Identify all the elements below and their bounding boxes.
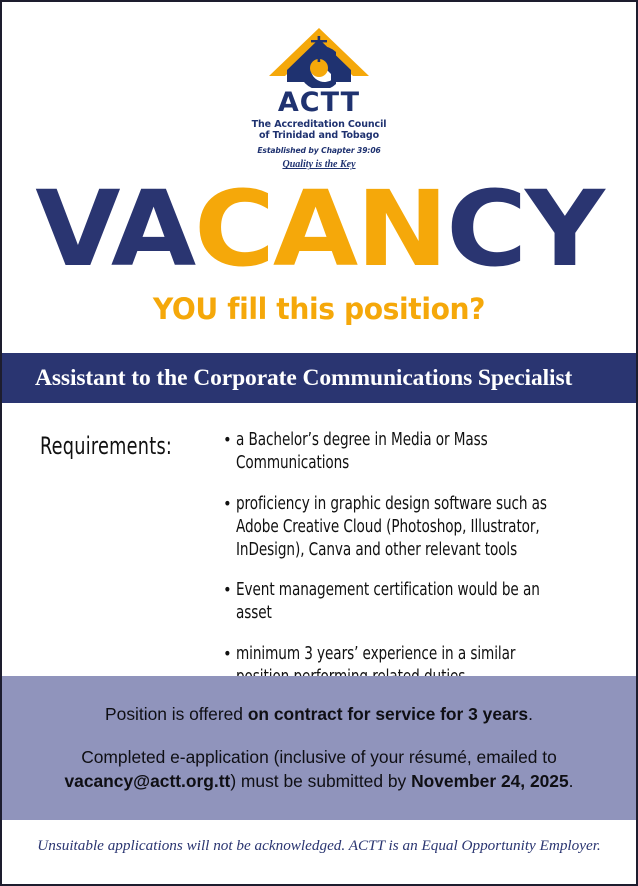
application-details-panel: Position is offered on contract for serv… bbox=[2, 676, 636, 820]
job-title-banner: Assistant to the Corporate Communication… bbox=[2, 353, 636, 403]
submission-end: . bbox=[569, 771, 574, 791]
list-item: • proficiency in graphic design software… bbox=[223, 493, 612, 563]
logo-subtitle-line-2: of Trinidad and Tobago bbox=[252, 130, 387, 141]
contract-statement: Position is offered on contract for serv… bbox=[105, 702, 533, 727]
requirement-text: Event management certification would be … bbox=[236, 579, 559, 625]
logo-established-text: Established by Chapter 39:06 bbox=[257, 146, 380, 155]
application-deadline: November 24, 2025 bbox=[411, 771, 569, 791]
requirement-text: proficiency in graphic design software s… bbox=[236, 493, 559, 563]
vacancy-poster: ACTT The Accreditation Council of Trinid… bbox=[0, 0, 638, 886]
contract-suffix: . bbox=[528, 704, 533, 724]
logo-acronym: ACTT bbox=[278, 89, 360, 116]
submission-middle: ) must be submitted by bbox=[230, 771, 411, 791]
list-item: • Event management certification would b… bbox=[223, 579, 612, 625]
logo-subtitle: The Accreditation Council of Trinidad an… bbox=[252, 119, 387, 141]
headline-part-1: VA bbox=[35, 168, 194, 290]
headline-subtitle: YOU fill this position? bbox=[12, 292, 627, 326]
actt-chevron-logo-icon bbox=[267, 26, 371, 88]
bullet-icon: • bbox=[223, 429, 236, 475]
requirement-text: a Bachelor’s degree in Media or Mass Com… bbox=[236, 429, 559, 475]
contract-prefix: Position is offered bbox=[105, 704, 248, 724]
headline-part-2: CAN bbox=[194, 168, 446, 290]
bullet-icon: • bbox=[223, 579, 236, 625]
logo-subtitle-line-1: The Accreditation Council bbox=[252, 119, 387, 130]
submission-statement: Completed e-application (inclusive of yo… bbox=[65, 745, 574, 794]
application-email[interactable]: vacancy@actt.org.tt bbox=[65, 771, 231, 791]
job-title-text: Assistant to the Corporate Communication… bbox=[35, 365, 572, 392]
disclaimer-text: Unsuitable applications will not be ackn… bbox=[2, 837, 636, 855]
bullet-icon: • bbox=[223, 493, 236, 563]
submission-line-1: Completed e-application (inclusive of yo… bbox=[81, 747, 557, 767]
contract-term: on contract for service for 3 years bbox=[248, 704, 528, 724]
organization-logo-block: ACTT The Accreditation Council of Trinid… bbox=[2, 2, 636, 170]
headline-part-3: CY bbox=[446, 168, 602, 290]
page-title: VACANCY bbox=[0, 182, 638, 278]
list-item: • a Bachelor’s degree in Media or Mass C… bbox=[223, 429, 612, 475]
